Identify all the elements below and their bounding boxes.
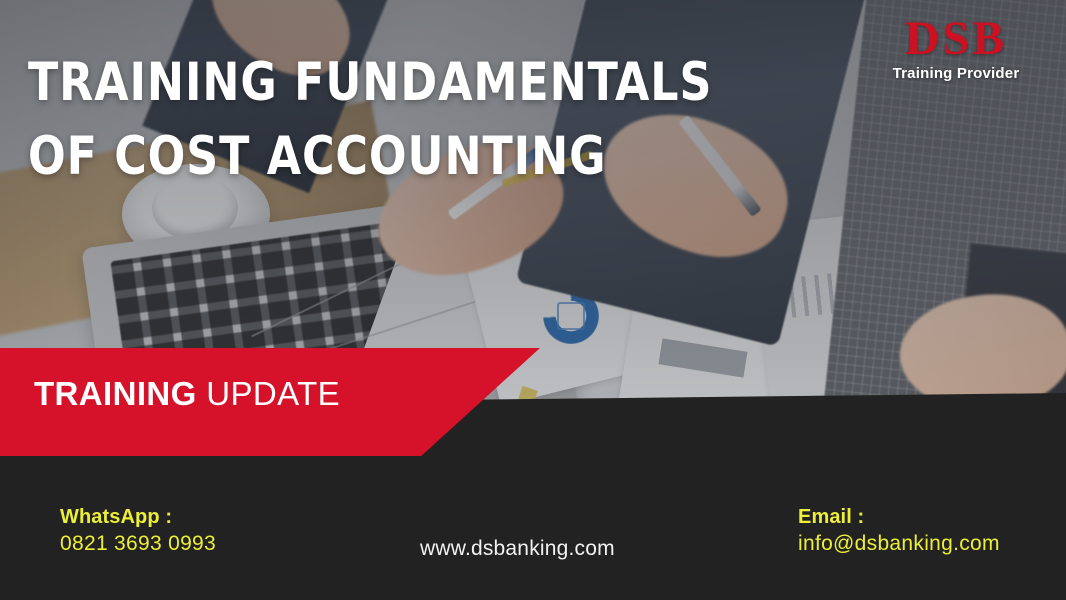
email-label: Email : — [798, 505, 1000, 530]
whatsapp-number[interactable]: 0821 3693 0993 — [60, 530, 216, 558]
website-url[interactable]: www.dsbanking.com — [420, 537, 615, 561]
whatsapp-contact: WhatsApp : 0821 3693 0993 — [60, 505, 216, 558]
contact-bar: WhatsApp : 0821 3693 0993 www.dsbanking.… — [0, 0, 1066, 600]
email-contact: Email : info@dsbanking.com — [798, 505, 1000, 558]
email-address[interactable]: info@dsbanking.com — [798, 530, 1000, 558]
training-flyer: Training Fundamentals of Cost Accounting… — [0, 0, 1066, 600]
whatsapp-label: WhatsApp : — [60, 505, 216, 530]
